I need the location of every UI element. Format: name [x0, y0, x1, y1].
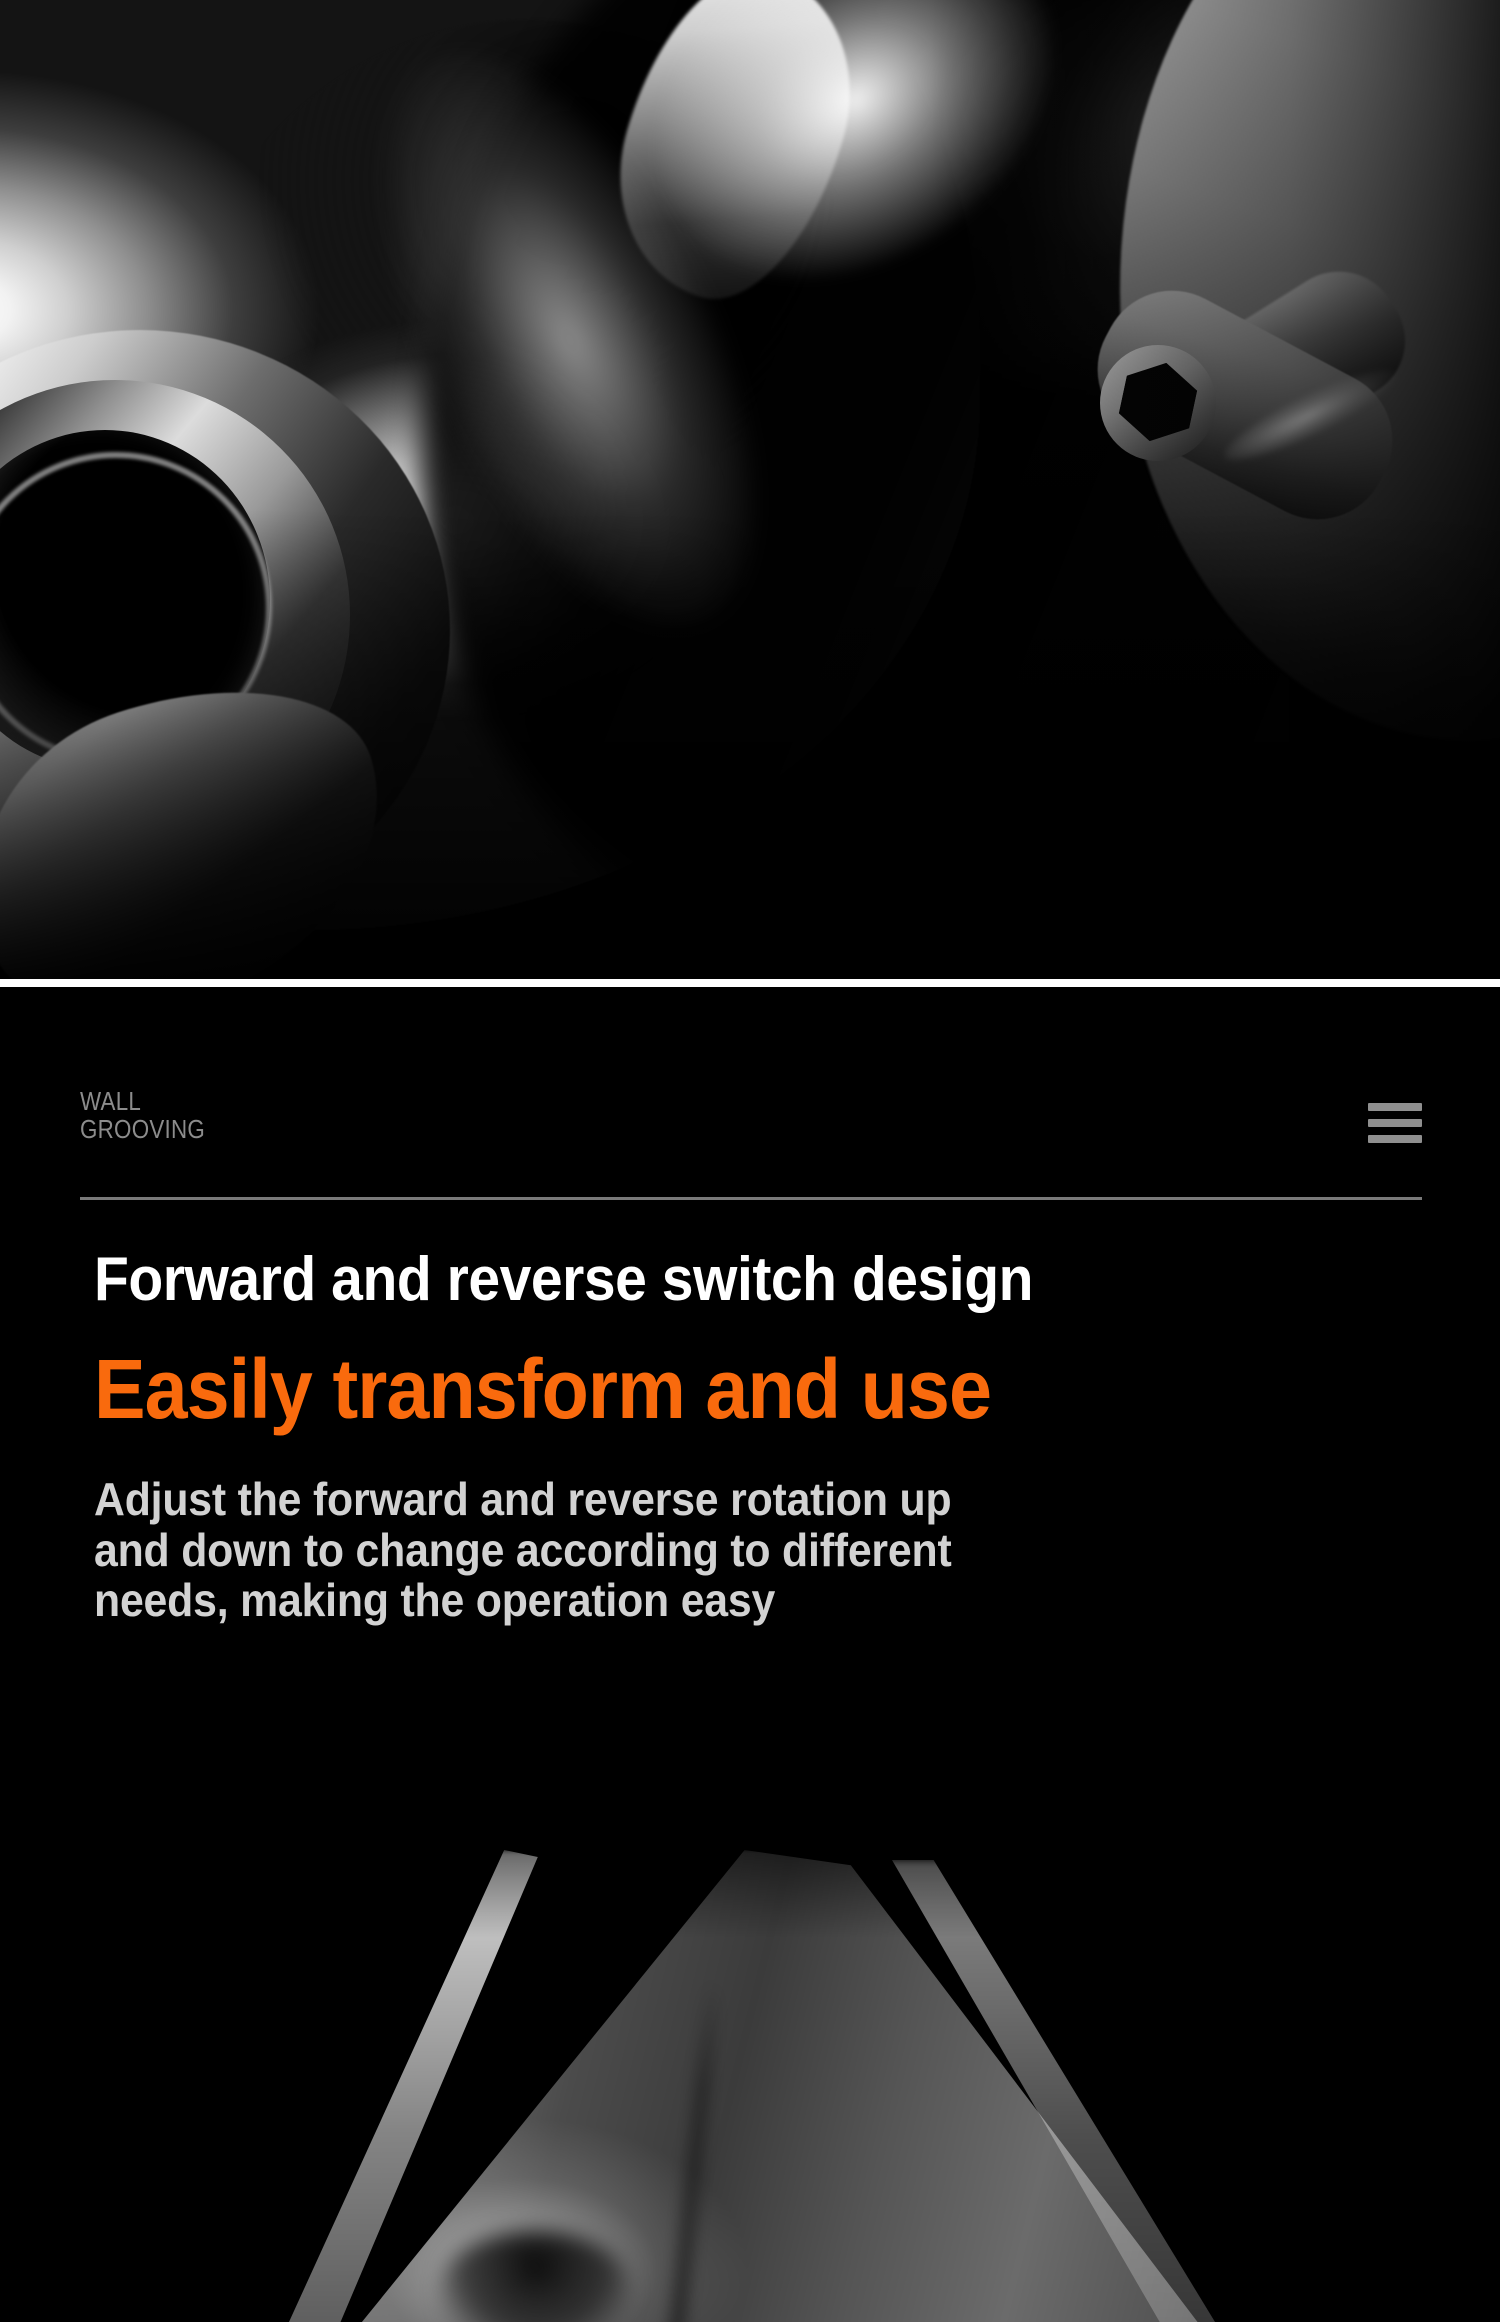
- hamburger-bar-1: [1368, 1103, 1422, 1111]
- headline-primary: Forward and reverse switch design: [94, 1245, 1308, 1314]
- body-line-2: and down to change according to differen…: [94, 1525, 1322, 1576]
- headline-accent: Easily transform and use: [94, 1342, 1308, 1438]
- hero-product-image: [0, 0, 1500, 980]
- footer-vignette: [0, 1830, 1500, 2322]
- hero-vignette: [0, 0, 1500, 980]
- body-line-1: Adjust the forward and reverse rotation …: [94, 1474, 1322, 1525]
- copy-block: Forward and reverse switch design Easily…: [94, 1245, 1414, 1626]
- hamburger-bar-2: [1368, 1119, 1422, 1127]
- brand-header-row: WALL GROOVING: [80, 1087, 1422, 1165]
- section-divider: [0, 979, 1500, 987]
- footer-product-image: [0, 1830, 1500, 2322]
- product-detail-page: WALL GROOVING Forward and reverse switch…: [0, 0, 1500, 2322]
- brand-label: WALL GROOVING: [80, 1087, 205, 1143]
- header-rule: [80, 1197, 1422, 1200]
- hamburger-bar-3: [1368, 1135, 1422, 1143]
- body-line-3: needs, making the operation easy: [94, 1575, 1322, 1626]
- hamburger-menu-icon[interactable]: [1368, 1103, 1422, 1143]
- body-paragraph: Adjust the forward and reverse rotation …: [94, 1474, 1322, 1626]
